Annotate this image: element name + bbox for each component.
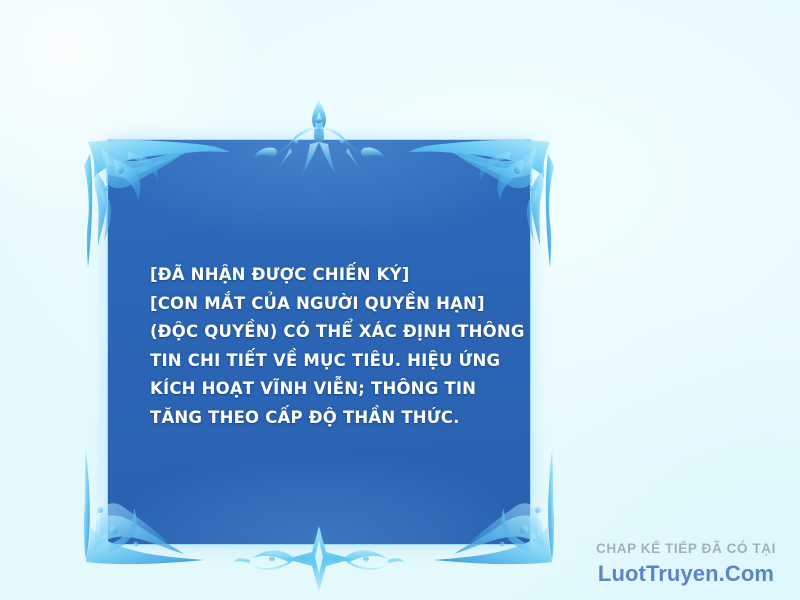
system-message-text: [ĐÃ NHẬN ĐƯỢC CHIẾN KÝ] [CON MẮT CỦA NGƯ… <box>150 261 496 432</box>
watermark-tagline: CHAP KẾ TIẾP ĐÃ CÓ TẠI <box>596 539 776 559</box>
message-line: (ĐỘC QUYỀN) CÓ THỂ XÁC ĐỊNH THÔNG <box>150 318 496 347</box>
message-line: [ĐÃ NHẬN ĐƯỢC CHIẾN KÝ] <box>150 261 496 290</box>
message-line: [CON MẮT CỦA NGƯỜI QUYỀN HẠN] <box>150 290 496 319</box>
site-watermark: CHAP KẾ TIẾP ĐÃ CÓ TẠI LuotTruyen.Com <box>596 539 776 588</box>
comic-page: [ĐÃ NHẬN ĐƯỢC CHIẾN KÝ] [CON MẮT CỦA NGƯ… <box>0 0 800 600</box>
message-line: TIN CHI TIẾT VỀ MỤC TIÊU. HIỆU ỨNG <box>150 347 496 376</box>
watermark-brand: LuotTruyen.Com <box>596 560 776 588</box>
message-line: TĂNG THEO CẤP ĐỘ THẦN THỨC. <box>150 404 496 433</box>
message-line: KÍCH HOẠT VĨNH VIỄN; THÔNG TIN <box>150 375 496 404</box>
system-panel-frame: [ĐÃ NHẬN ĐƯỢC CHIẾN KÝ] [CON MẮT CỦA NGƯ… <box>88 104 550 566</box>
